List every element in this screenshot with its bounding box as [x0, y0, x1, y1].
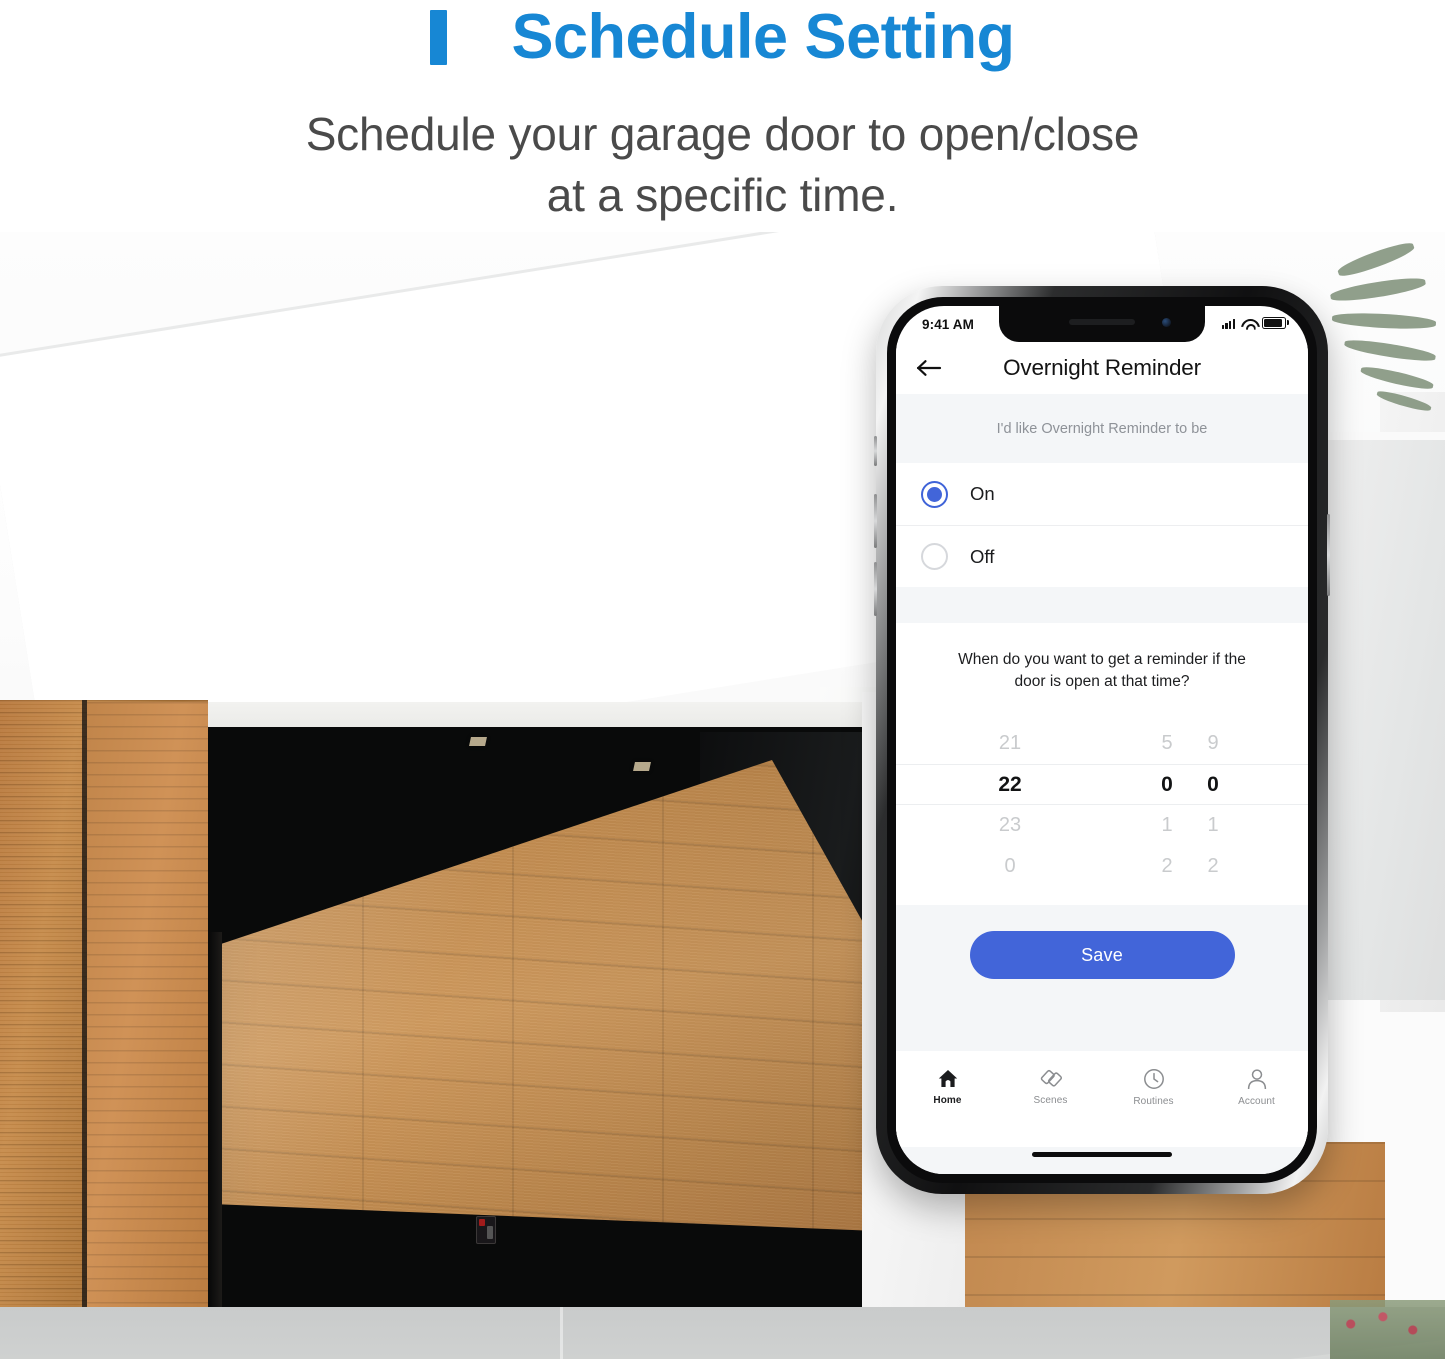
minute-tens-cell-next[interactable]: 1	[1144, 805, 1190, 846]
flower-bed	[1330, 1300, 1445, 1359]
hour-cell-prev[interactable]: 21	[968, 723, 1052, 764]
minute-tens-cell-selected[interactable]: 0	[1144, 764, 1190, 805]
volume-down-button[interactable]	[874, 562, 877, 616]
tab-home[interactable]: Home	[896, 1068, 999, 1106]
accent-bar-icon	[430, 10, 447, 65]
tab-home-label: Home	[933, 1095, 961, 1106]
minute-ones-cell-next2[interactable]: 2	[1190, 846, 1236, 887]
radio-label-off: Off	[970, 546, 994, 568]
ceiling-light-2	[633, 762, 651, 771]
scenes-icon	[1039, 1068, 1063, 1089]
radio-off-icon[interactable]	[921, 543, 948, 570]
hero-header: Schedule Setting Schedule your garage do…	[0, 0, 1445, 232]
battery-icon	[1262, 317, 1286, 329]
status-bar-indicators	[1222, 317, 1286, 329]
tab-account-label: Account	[1238, 1096, 1275, 1107]
time-picker-gap	[1052, 723, 1144, 875]
clock-icon	[1143, 1068, 1165, 1090]
notch	[999, 306, 1205, 342]
front-camera-icon	[1162, 318, 1171, 327]
time-picker-question: When do you want to get a reminder if th…	[896, 649, 1308, 693]
hour-cell-next[interactable]: 23	[968, 805, 1052, 846]
wood-cladding-left-2	[87, 702, 208, 1359]
wifi-icon	[1241, 318, 1256, 329]
ceiling-light-1	[469, 737, 487, 746]
tab-scenes-label: Scenes	[1034, 1095, 1068, 1106]
content-bottom-space	[896, 979, 1308, 1051]
section-note: I'd like Overnight Reminder to be	[896, 394, 1308, 463]
page-subtitle-line1: Schedule your garage door to open/close	[0, 104, 1445, 165]
status-bar-time: 9:41 AM	[922, 317, 974, 332]
driveway	[0, 1307, 1445, 1359]
home-icon	[937, 1068, 959, 1089]
power-button[interactable]	[1327, 514, 1330, 596]
person-icon	[1246, 1068, 1268, 1090]
tab-account[interactable]: Account	[1205, 1068, 1308, 1107]
time-picker-question-line2: door is open at that time?	[928, 671, 1276, 693]
page-title: Schedule Setting	[511, 4, 1014, 70]
radio-row-off[interactable]: Off	[896, 525, 1308, 587]
save-button[interactable]: Save	[970, 931, 1235, 979]
app-content: I'd like Overnight Reminder to be On Off…	[896, 394, 1308, 1174]
minute-ones-cell-next[interactable]: 1	[1190, 805, 1236, 846]
minute-ones-cell-prev[interactable]: 9	[1190, 723, 1236, 764]
minute-tens-cell-next2[interactable]: 2	[1144, 846, 1190, 887]
back-arrow-icon[interactable]	[916, 358, 942, 378]
wood-cladding-seam	[82, 700, 87, 1359]
page-subtitle: Schedule your garage door to open/close …	[0, 104, 1445, 226]
time-picker-footer-space	[896, 875, 1308, 905]
time-picker-question-line1: When do you want to get a reminder if th…	[928, 649, 1276, 671]
phone-mockup: 9:41 AM Overnight Reminder I'd like Over	[876, 286, 1328, 1194]
reminder-toggle-group: On Off	[896, 463, 1308, 587]
radio-on-icon[interactable]	[921, 481, 948, 508]
minute-ones-cell-selected[interactable]: 0	[1190, 764, 1236, 805]
time-picker[interactable]: 21 22 23 0 5 0 1 2 9	[896, 723, 1308, 875]
phone-screen: 9:41 AM Overnight Reminder I'd like Over	[896, 306, 1308, 1174]
time-picker-card: When do you want to get a reminder if th…	[896, 623, 1308, 905]
earpiece-speaker-icon	[1069, 319, 1135, 325]
neighbor-house	[1318, 440, 1445, 1000]
page-title-row: Schedule Setting	[0, 4, 1445, 70]
time-picker-minute-ones-column[interactable]: 9 0 1 2	[1190, 723, 1236, 875]
tree-right	[1330, 238, 1445, 428]
save-button-area: Save	[896, 905, 1308, 979]
time-picker-hour-column[interactable]: 21 22 23 0	[968, 723, 1052, 875]
time-picker-minute-tens-column[interactable]: 5 0 1 2	[1144, 723, 1190, 875]
hour-cell-selected[interactable]: 22	[968, 764, 1052, 805]
tab-routines[interactable]: Routines	[1102, 1068, 1205, 1107]
home-indicator[interactable]	[1032, 1152, 1172, 1157]
cellular-signal-icon	[1222, 318, 1235, 329]
volume-up-button[interactable]	[874, 494, 877, 548]
tab-scenes[interactable]: Scenes	[999, 1068, 1102, 1106]
garage-door-left-edge	[210, 932, 222, 1359]
app-header-title: Overnight Reminder	[896, 355, 1308, 381]
garage-door-handle	[476, 1216, 496, 1244]
radio-label-on: On	[970, 483, 995, 505]
section-divider	[896, 587, 1308, 623]
bottom-tab-bar: Home Scenes Routines	[896, 1051, 1308, 1147]
minute-tens-cell-prev[interactable]: 5	[1144, 723, 1190, 764]
radio-row-on[interactable]: On	[896, 463, 1308, 525]
mute-switch[interactable]	[874, 436, 877, 466]
app-header: Overnight Reminder	[896, 342, 1308, 394]
hour-cell-next2[interactable]: 0	[968, 846, 1052, 887]
tab-routines-label: Routines	[1133, 1096, 1173, 1107]
page-subtitle-line2: at a specific time.	[0, 165, 1445, 226]
driveway-seam-2	[560, 1307, 563, 1359]
